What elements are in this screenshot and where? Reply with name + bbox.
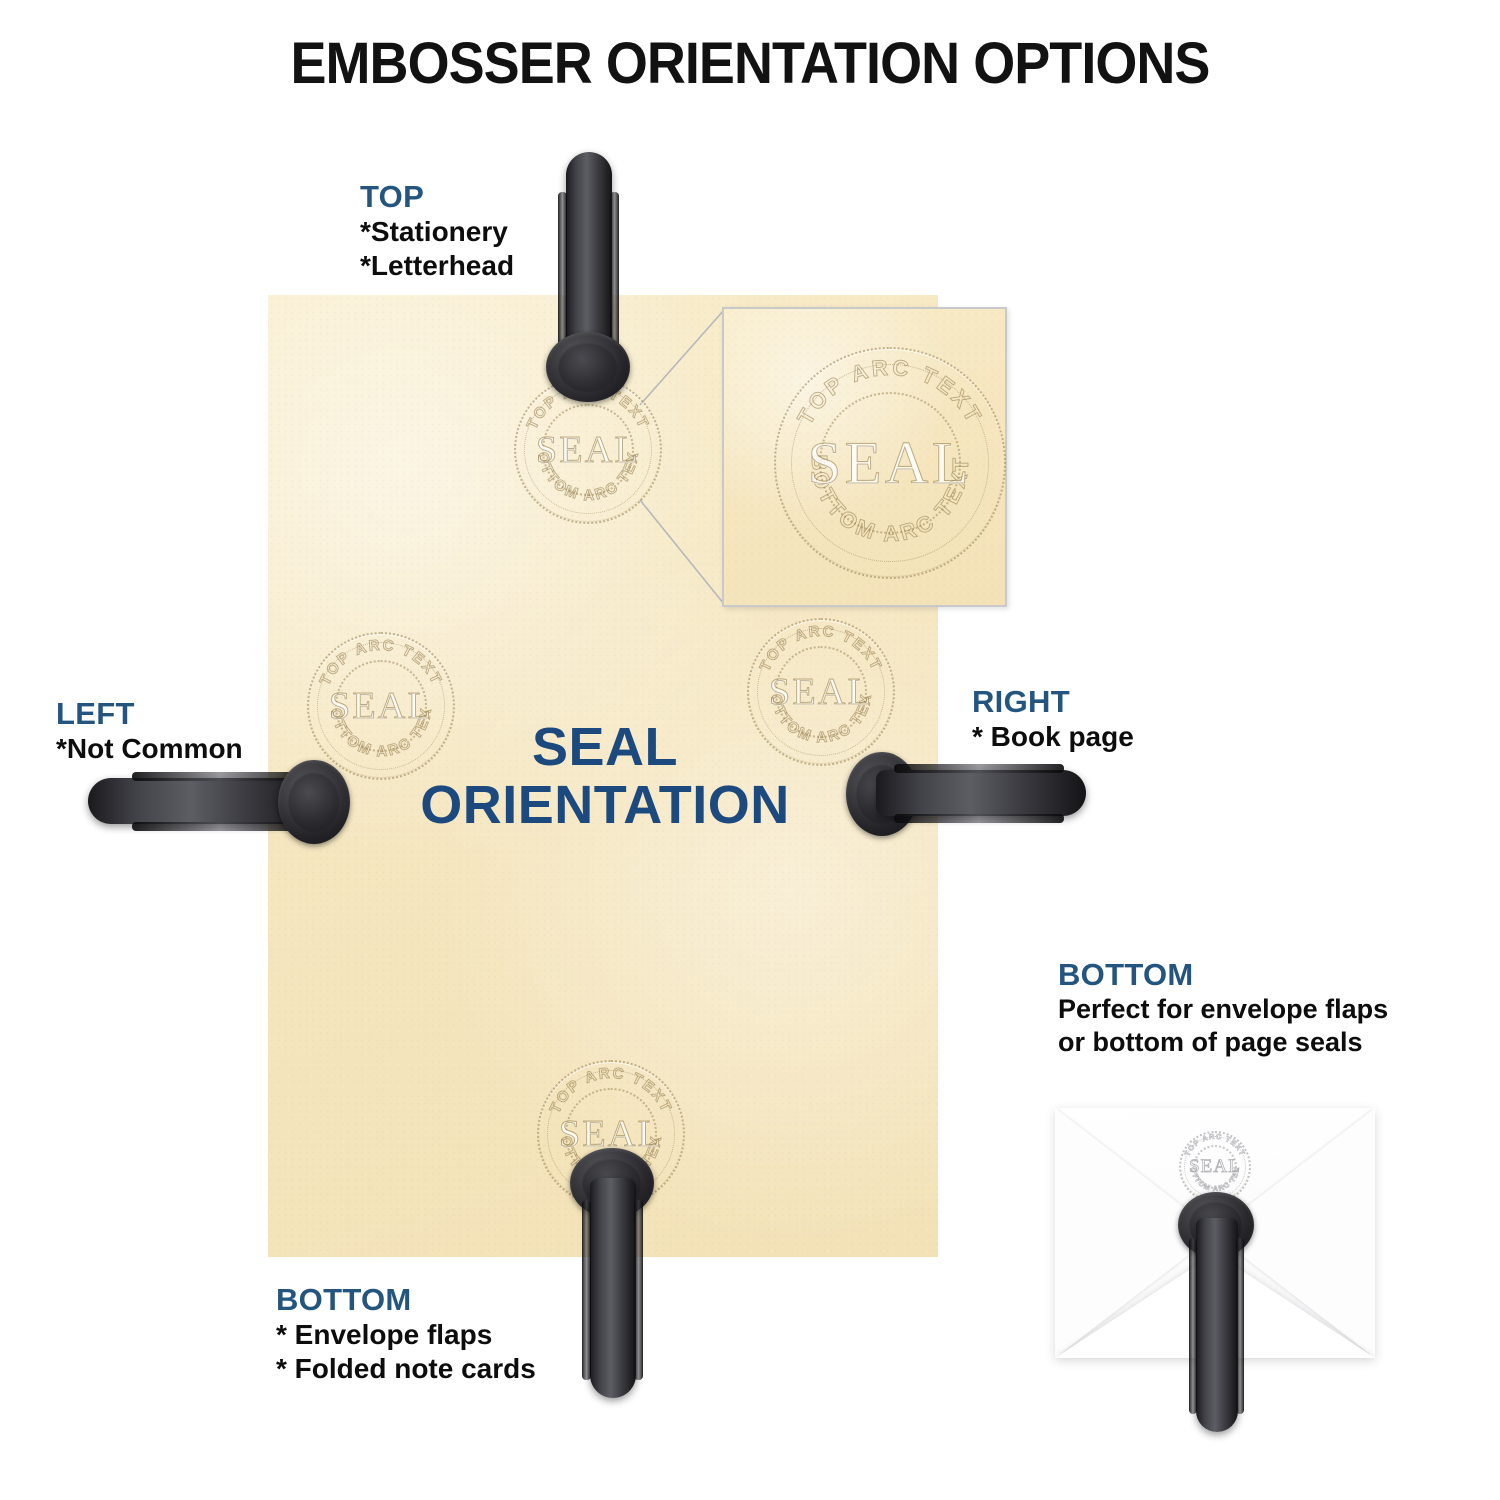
callout-line-bottom-right-1: Perfect for envelope flaps xyxy=(1058,993,1388,1026)
callout-heading-right: RIGHT xyxy=(972,685,1134,720)
embosser-handle xyxy=(1196,1218,1238,1432)
callout-heading-top: TOP xyxy=(360,180,514,215)
embosser-handle xyxy=(876,770,1086,816)
embosser-tool-top xyxy=(546,152,630,402)
embosser-handle xyxy=(590,1178,636,1398)
seal-center-text: SEAL xyxy=(772,345,1008,581)
callout-label-bottom-left: BOTTOM * Envelope flaps * Folded note ca… xyxy=(276,1283,536,1386)
embosser-tool-envelope xyxy=(1178,1192,1254,1432)
callout-label-right: RIGHT * Book page xyxy=(972,685,1134,754)
callout-line-left-1: *Not Common xyxy=(56,732,243,766)
callout-line-right-1: * Book page xyxy=(972,720,1134,754)
embosser-rail-right xyxy=(1236,1238,1244,1414)
center-seal-orientation-label: SEAL ORIENTATION xyxy=(330,718,880,835)
embosser-disc xyxy=(546,332,630,402)
callout-label-left: LEFT *Not Common xyxy=(56,697,243,766)
embosser-rail-right xyxy=(610,192,619,362)
callout-line-bottom-right-2: or bottom of page seals xyxy=(1058,1026,1388,1059)
embosser-rail-bottom xyxy=(132,822,308,831)
infographic-canvas: EMBOSSER ORIENTATION OPTIONS TOP ARC TEX… xyxy=(0,0,1500,1500)
callout-heading-bottom-right: BOTTOM xyxy=(1058,958,1388,993)
embosser-rail-top xyxy=(132,772,308,781)
embosser-tool-right xyxy=(846,752,1086,836)
embosser-rail-bottom xyxy=(894,814,1064,823)
callout-label-top: TOP *Stationery *Letterhead xyxy=(360,180,514,283)
embosser-tool-bottom xyxy=(570,1148,654,1398)
callout-heading-bottom-left: BOTTOM xyxy=(276,1283,536,1318)
center-label-line2: ORIENTATION xyxy=(330,776,880,834)
center-label-line1: SEAL xyxy=(532,717,678,777)
embosser-rail-right xyxy=(634,1200,643,1380)
seal-impression-magnified: TOP ARC TEXT BOTTOM ARC TEXT SEAL xyxy=(772,345,1008,581)
embosser-disc xyxy=(278,760,350,844)
page-title: EMBOSSER ORIENTATION OPTIONS xyxy=(53,30,1448,97)
embosser-rail-left xyxy=(1189,1238,1197,1414)
callout-line-bottom-left-1: * Envelope flaps xyxy=(276,1318,536,1352)
callout-line-bottom-left-2: * Folded note cards xyxy=(276,1352,536,1386)
embosser-rail-left xyxy=(582,1200,591,1380)
callout-line-top-1: *Stationery xyxy=(360,215,514,249)
embosser-rail-top xyxy=(894,764,1064,773)
callout-label-bottom-right: BOTTOM Perfect for envelope flaps or bot… xyxy=(1058,958,1388,1059)
callout-heading-left: LEFT xyxy=(56,697,243,732)
embosser-tool-left xyxy=(88,760,350,844)
callout-line-top-2: *Letterhead xyxy=(360,249,514,283)
